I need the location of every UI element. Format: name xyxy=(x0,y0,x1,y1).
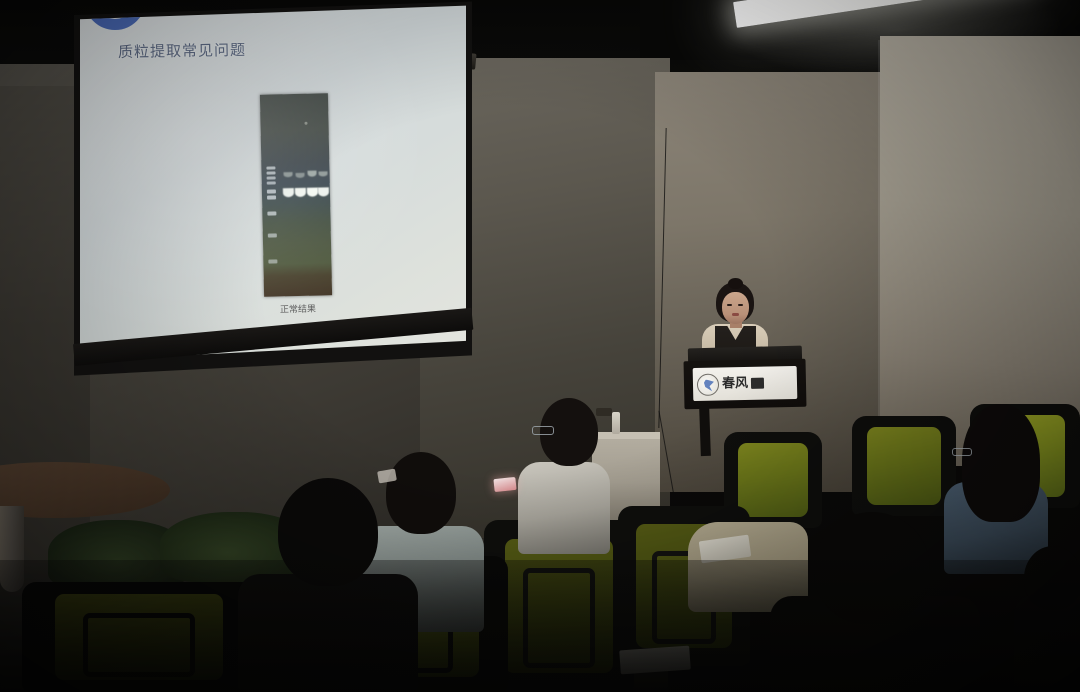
scene-root: 质粒提取常见问题 xyxy=(0,0,1080,692)
sample-band-upper xyxy=(296,173,305,178)
podium-brand-text: 春风 xyxy=(722,377,748,391)
audience-head xyxy=(278,478,378,586)
presenter-face xyxy=(722,292,749,324)
sample-band-main xyxy=(307,188,318,197)
ladder-band xyxy=(267,181,276,184)
presenter-mouth xyxy=(732,313,739,316)
audience-member-6 xyxy=(1014,546,1080,692)
sample-band-main xyxy=(283,188,294,197)
chair-mesh-inner-outline xyxy=(83,613,195,677)
audience-head xyxy=(814,512,930,624)
slide-title: 质粒提取常见问题 xyxy=(118,39,246,62)
audience-head xyxy=(1024,546,1080,610)
sample-band-main xyxy=(295,188,306,197)
audience-torso xyxy=(518,462,610,554)
chair-front-0[interactable] xyxy=(22,582,256,692)
podium: 春风 xyxy=(684,359,807,410)
gel-speck xyxy=(304,122,307,125)
sample-band-upper xyxy=(307,171,316,177)
ladder-band xyxy=(267,171,276,174)
glasses-icon xyxy=(952,448,972,456)
ladder-band xyxy=(268,233,277,237)
audience-torso xyxy=(238,574,418,692)
chair-mesh-inner-outline xyxy=(523,568,595,668)
presenter-eye-left xyxy=(727,304,732,306)
audience-head-hair xyxy=(962,404,1040,522)
ladder-band xyxy=(267,195,276,199)
wall-far-right xyxy=(880,36,1080,466)
sample-band-main xyxy=(318,187,329,196)
water-bottle xyxy=(612,412,620,434)
glasses-icon xyxy=(532,426,554,435)
ladder-band xyxy=(267,176,276,179)
ladder-band xyxy=(267,189,276,193)
podium-brand-sign: 春风 xyxy=(693,366,798,401)
ladder-band xyxy=(266,166,275,169)
audience-phone-screen[interactable] xyxy=(493,477,516,492)
sample-band-upper xyxy=(319,171,328,176)
wall-corner-edge xyxy=(878,40,880,460)
presenter-hair-bun xyxy=(728,278,743,289)
paper-handout-2[interactable] xyxy=(619,646,691,675)
table-pedestal-leg xyxy=(0,506,24,592)
gel-electrophoresis-image xyxy=(260,93,332,296)
presenter-eye-right xyxy=(738,304,743,306)
gel-figure xyxy=(260,93,332,296)
audience-member-4 xyxy=(770,512,980,692)
audience-member-foreground-left xyxy=(238,478,418,692)
podium-leg xyxy=(699,406,711,456)
podium-sign-chip xyxy=(751,378,764,389)
gel-figure-caption: 正常结果 xyxy=(248,301,348,316)
ladder-band xyxy=(268,259,277,263)
chair-mesh-back xyxy=(867,427,942,505)
sample-band-upper xyxy=(284,172,293,177)
ladder-band xyxy=(267,211,276,215)
audience-member-2 xyxy=(516,398,612,548)
spring-breeze-logo-icon xyxy=(697,373,719,395)
